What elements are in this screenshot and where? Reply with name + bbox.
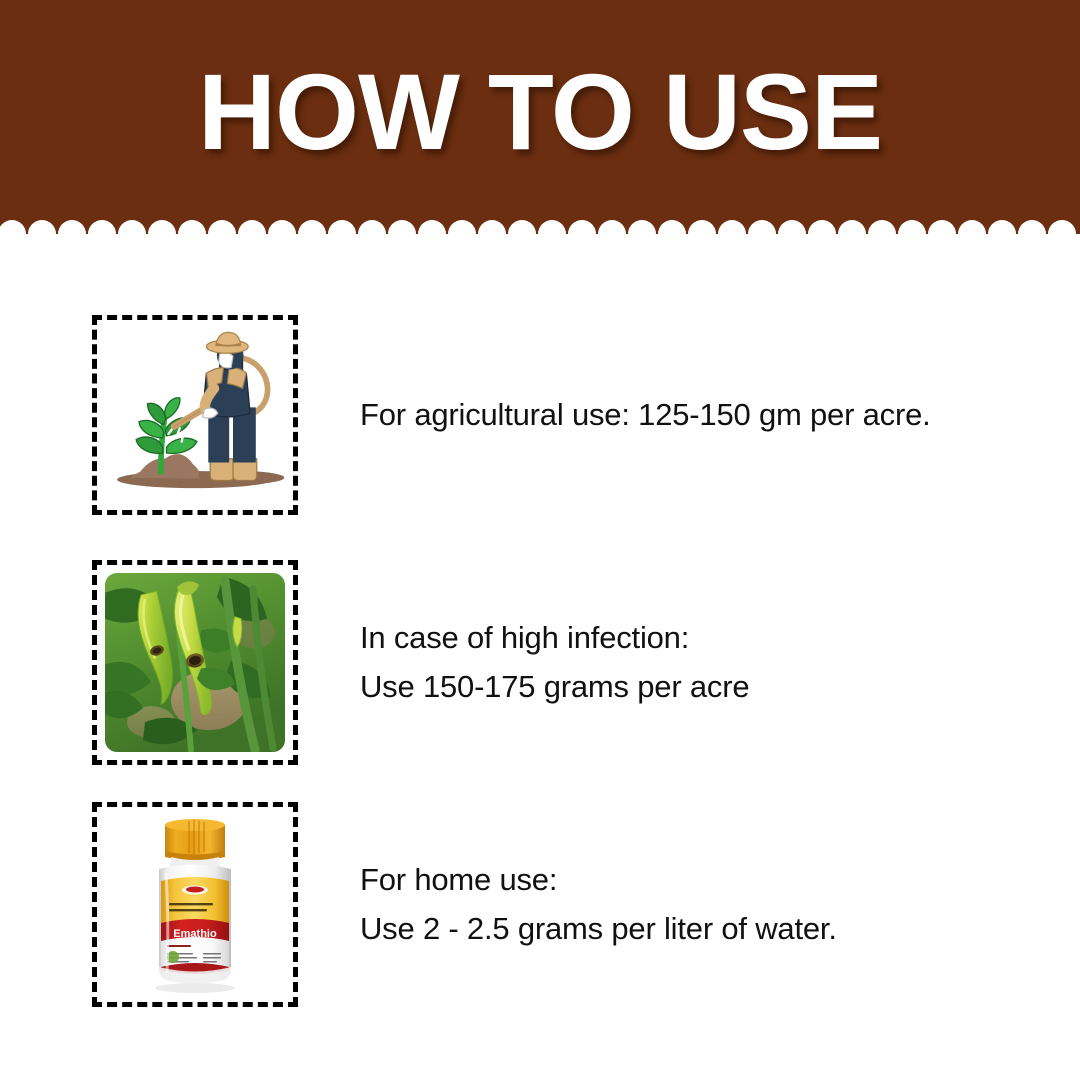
instruction-line: In case of high infection: xyxy=(360,614,749,662)
thumbnail-box-high-infection xyxy=(92,560,298,765)
instruction-text-high-infection: In case of high infection: Use 150-175 g… xyxy=(360,614,749,710)
how-to-use-poster: HOW TO USE xyxy=(0,0,1080,1080)
thumbnail-box-agricultural-use xyxy=(92,315,298,515)
infected-chili-peppers-photo xyxy=(105,573,285,752)
instruction-text-home-use: For home use: Use 2 - 2.5 grams per lite… xyxy=(360,856,837,952)
scalloped-edge-decoration xyxy=(0,204,1080,244)
instruction-row-home-use: Emathio xyxy=(0,802,1080,1007)
page-title: HOW TO USE xyxy=(0,58,1080,166)
farmer-spraying-plant-illustration xyxy=(97,320,293,510)
instruction-line: Use 2 - 2.5 grams per liter of water. xyxy=(360,905,837,953)
instruction-line: For agricultural use: 125-150 gm per acr… xyxy=(360,391,931,439)
instruction-row-agricultural-use: For agricultural use: 125-150 gm per acr… xyxy=(0,315,1080,515)
instruction-line: Use 150-175 grams per acre xyxy=(360,663,749,711)
instruction-row-high-infection: In case of high infection: Use 150-175 g… xyxy=(0,560,1080,765)
instruction-line: For home use: xyxy=(360,856,837,904)
product-bottle-photo: Emathio xyxy=(97,807,293,1002)
thumbnail-box-home-use: Emathio xyxy=(92,802,298,1007)
instruction-text-agricultural-use: For agricultural use: 125-150 gm per acr… xyxy=(360,391,931,439)
instruction-rows: For agricultural use: 125-150 gm per acr… xyxy=(0,234,1080,1080)
